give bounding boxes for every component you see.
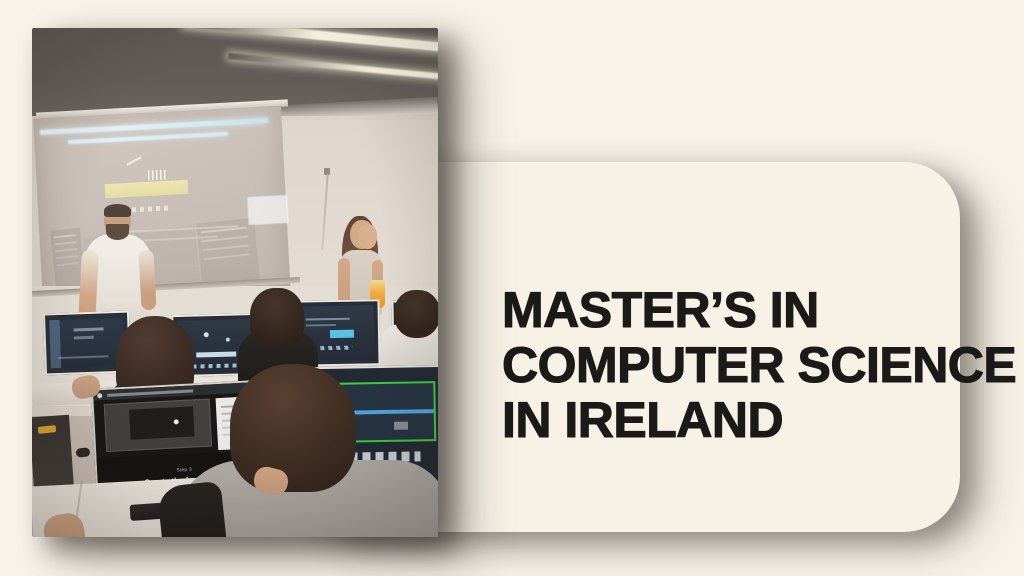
ide-label [394, 422, 408, 430]
monitor-ui-line [306, 324, 336, 327]
page-title: MASTER’S IN COMPUTER SCIENCE IN IRELAND [502, 283, 972, 448]
projected-popup [247, 195, 288, 225]
student-foreground-head [230, 364, 356, 492]
video-stage [129, 406, 194, 439]
instructor-arm [138, 250, 156, 311]
presenter-face [358, 224, 377, 249]
monitor-ui-toolbar [193, 363, 245, 368]
monitor-ui-highlight [330, 330, 354, 338]
headline-line-2: COMPUTER SCIENCE [502, 338, 972, 393]
projected-tick-marks [148, 169, 168, 180]
monitor-ui-line [73, 327, 103, 331]
classroom-photo: Step 3 Create the frog sprite [32, 28, 438, 537]
monitor-ui-line [58, 355, 108, 359]
window-title-text [107, 389, 193, 396]
instructor-hair [104, 204, 131, 217]
monitor-ui-line [306, 318, 350, 321]
poster-canvas: MASTER’S IN COMPUTER SCIENCE IN IRELAND [0, 0, 1024, 576]
instructor-beard [106, 224, 129, 240]
monitor-ui-dot [226, 338, 230, 342]
headline-line-1: MASTER’S IN [502, 283, 972, 338]
monitor-ui-line [74, 336, 94, 340]
ide-highlight-line [350, 409, 434, 414]
video-editor-canvas [104, 399, 212, 452]
headline-line-3: IN IRELAND [502, 393, 972, 448]
student-back-center-head [250, 288, 304, 346]
mouse [76, 447, 91, 457]
student-right-head [394, 290, 438, 338]
monitor-ui-dot [204, 332, 209, 337]
monitor-ui-bar [196, 351, 236, 357]
